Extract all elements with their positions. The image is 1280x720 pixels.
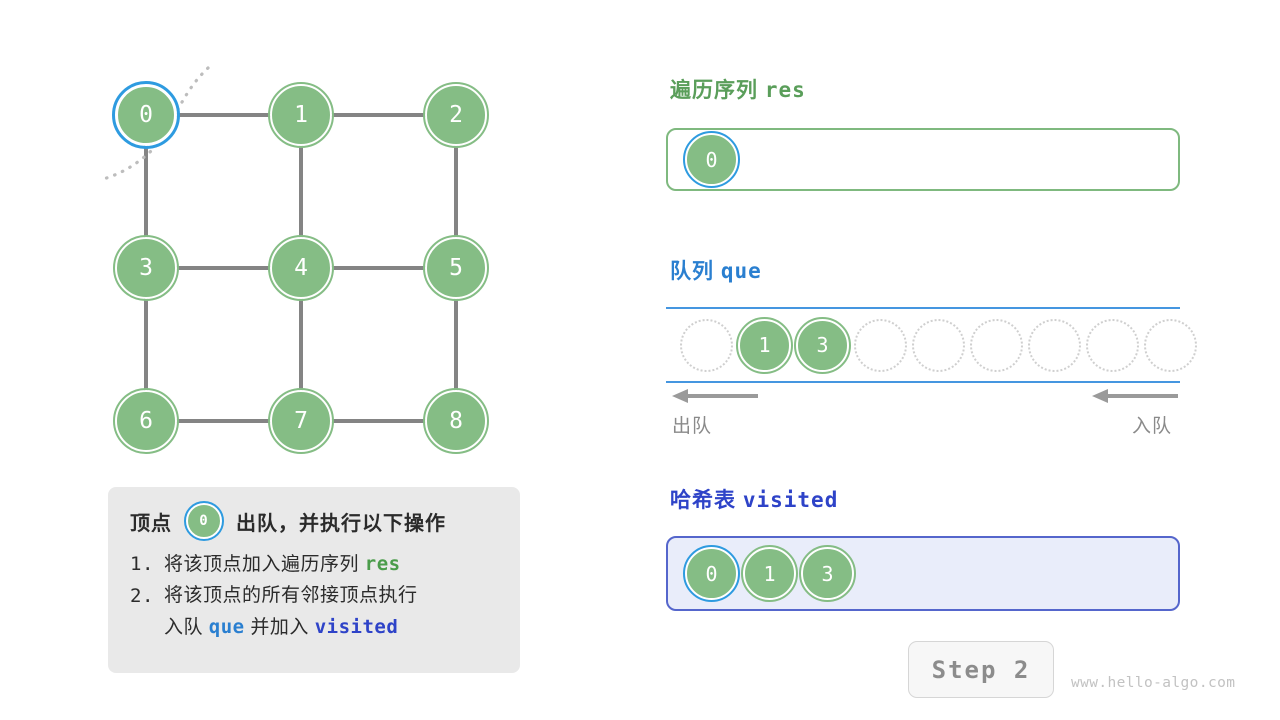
res-item-0: 0 [685, 133, 738, 186]
caption-head-prefix: 顶点 [130, 507, 172, 536]
graph-node-3[interactable]: 3 [115, 237, 177, 299]
queue-item-1: 1 [738, 319, 791, 372]
caption-cont-text-1: 入队 [164, 617, 203, 638]
queue-section-title: 队列 que [670, 255, 762, 285]
graph-node-2[interactable]: 2 [425, 84, 487, 146]
graph-node-8[interactable]: 8 [425, 390, 487, 452]
step-badge: Step 2 [908, 641, 1054, 698]
res-title-cn: 遍历序列 [670, 79, 758, 102]
visited-title-mono: visited [743, 488, 839, 512]
dequeue-label: 出队 [672, 411, 712, 438]
enqueue-arrow-icon [1090, 385, 1180, 407]
graph-node-1[interactable]: 1 [270, 84, 332, 146]
state-panel: 遍历序列 res 0 队列 que 13 出队 入队 [666, 0, 1186, 720]
visited-container: 013 [666, 536, 1180, 611]
res-container: 0 [666, 128, 1180, 191]
visited-item-1: 1 [743, 547, 796, 600]
visited-item-0: 0 [685, 547, 738, 600]
queue-slot-row: 13 [666, 309, 1180, 381]
caption-head-suffix: 出队，并执行以下操作 [236, 507, 446, 536]
caption-step-2-text: 将该顶点的所有邻接顶点执行 [164, 581, 418, 612]
queue-item-3: 3 [796, 319, 849, 372]
res-section-title: 遍历序列 res [670, 74, 806, 104]
caption-keyword-que: que [209, 616, 245, 638]
caption-keyword-visited: visited [315, 616, 399, 638]
caption-node-badge: 0 [186, 503, 222, 539]
graph-node-7[interactable]: 7 [270, 390, 332, 452]
visited-item-3: 3 [801, 547, 854, 600]
caption-step-2-continued: 入队 que 并加入 visited [130, 612, 500, 644]
graph-panel: 012345678 [0, 0, 620, 480]
illustration-canvas: 012345678 顶点 0 出队，并执行以下操作 1. 将该顶点加入遍历序列 … [0, 0, 1280, 720]
caption-step-1-number: 1. [130, 549, 164, 581]
queue-empty-slot-8 [1144, 319, 1197, 372]
queue-empty-slot-6 [1028, 319, 1081, 372]
queue-container: 13 [666, 307, 1180, 383]
queue-empty-slot-4 [912, 319, 965, 372]
caption-step-2-cont-text: 入队 que 并加入 visited [164, 612, 398, 644]
caption-step-1-keyword-res: res [365, 553, 401, 575]
caption-step-1-text: 将该顶点加入遍历序列 res [164, 549, 401, 581]
caption-step-1-body: 将该顶点加入遍历序列 [164, 554, 359, 575]
queue-bottom-rail [666, 381, 1180, 383]
graph-node-0[interactable]: 0 [115, 84, 177, 146]
queue-title-cn: 队列 [670, 260, 714, 283]
graph-node-6[interactable]: 6 [115, 390, 177, 452]
queue-empty-slot-3 [854, 319, 907, 372]
res-title-mono: res [765, 78, 806, 102]
queue-direction-row: 出队 入队 [666, 385, 1180, 445]
enqueue-label: 入队 [1132, 411, 1172, 438]
caption-step-1: 1. 将该顶点加入遍历序列 res [130, 549, 500, 581]
caption-indent-spacer [130, 612, 164, 644]
queue-title-mono: que [721, 259, 762, 283]
graph-node-5[interactable]: 5 [425, 237, 487, 299]
queue-empty-slot-0 [680, 319, 733, 372]
queue-empty-slot-5 [970, 319, 1023, 372]
visited-title-cn: 哈希表 [670, 489, 736, 512]
queue-empty-slot-7 [1086, 319, 1139, 372]
caption-step-2-number: 2. [130, 581, 164, 612]
site-url-watermark: www.hello-algo.com [1071, 675, 1235, 691]
caption-step-2: 2. 将该顶点的所有邻接顶点执行 [130, 581, 500, 612]
caption-cont-text-2: 并加入 [250, 617, 309, 638]
visited-section-title: 哈希表 visited [670, 484, 838, 514]
caption-heading: 顶点 0 出队，并执行以下操作 [130, 503, 500, 539]
caption-box: 顶点 0 出队，并执行以下操作 1. 将该顶点加入遍历序列 res 2. 将该顶… [108, 487, 520, 673]
graph-node-4[interactable]: 4 [270, 237, 332, 299]
dequeue-arrow-icon [670, 385, 760, 407]
